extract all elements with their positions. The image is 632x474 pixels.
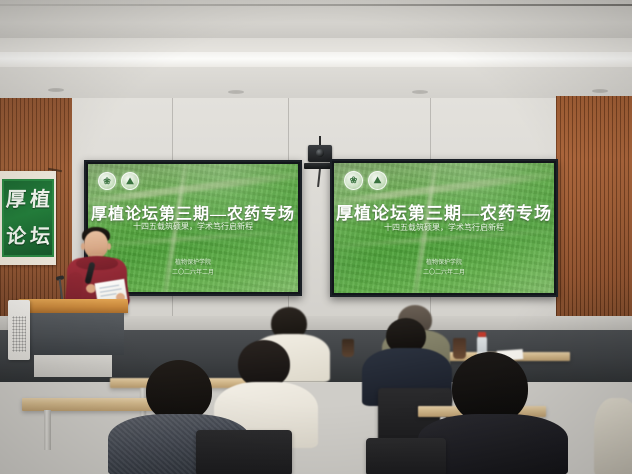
table-leg (44, 410, 51, 450)
ceiling-downlight (412, 90, 428, 94)
ceiling-beam (0, 52, 632, 67)
slide-footer-date: 二〇二六年二月 (334, 269, 554, 278)
conference-room-screenshot: 厚 植 论 坛 ❀ ⛰ 厚植论坛第三期—农药专场 十四五载筑硕果，学术笃行启新程… (0, 0, 632, 474)
plaque-char-4: 坛 (29, 227, 50, 247)
display-right-screen: ❀ ⛰ 厚植论坛第三期—农药专场 十四五载筑硕果，学术笃行启新程 植物保护学院 … (334, 163, 554, 293)
slide-right: ❀ ⛰ 厚植论坛第三期—农药专场 十四五载筑硕果，学术笃行启新程 植物保护学院 … (334, 163, 554, 293)
ceiling-downlight (48, 88, 64, 92)
college-emblem-icon: ⛰ (121, 172, 139, 190)
plaque-char-1: 厚 (5, 190, 26, 210)
slide-title: 厚植论坛第三期—农药专场 (334, 199, 554, 224)
slide-logos: ❀ ⛰ (98, 172, 139, 190)
ceiling-mid-panel (0, 38, 632, 52)
podium-base (34, 355, 112, 377)
university-emblem-icon: ❀ (98, 172, 116, 190)
ceiling-lower-panel (0, 67, 632, 100)
bottle-cap (478, 332, 486, 337)
attendee-body (594, 398, 632, 474)
display-right[interactable]: ❀ ⛰ 厚植论坛第三期—农药专场 十四五载筑硕果，学术笃行启新程 植物保护学院 … (330, 159, 558, 297)
ceiling-downlight (228, 90, 244, 94)
podium-desktop (18, 299, 128, 313)
presenter-hood (76, 256, 118, 270)
university-emblem-icon: ❀ (344, 171, 363, 190)
slide-logos: ❀ ⛰ (344, 171, 387, 190)
coffee-cup (453, 338, 466, 359)
slide-subtitle: 十四五载筑硕果，学术笃行启新程 (334, 222, 554, 233)
wall-plaque: 厚 植 论 坛 (0, 171, 56, 265)
plaque-seal: 厚 植 论 坛 (2, 179, 54, 257)
audience-chair[interactable] (366, 438, 446, 474)
coffee-cup (342, 339, 354, 357)
podium-body[interactable] (22, 313, 124, 355)
attendee-head (238, 340, 290, 388)
attendee-head (146, 360, 212, 422)
ceiling-camera-icon (308, 145, 332, 162)
plaque-char-2: 植 (29, 190, 50, 210)
slide-subtitle: 十四五载筑硕果，学术笃行启新程 (88, 221, 298, 232)
speaker-grill-icon (12, 316, 26, 352)
camera-lens-icon (316, 149, 324, 157)
ceiling-seam-line (0, 4, 632, 6)
podium-loudspeaker (8, 300, 30, 360)
presenter-ear (81, 243, 85, 250)
college-emblem-icon: ⛰ (368, 171, 387, 190)
slide-footer-org: 植物保护学院 (334, 259, 554, 268)
ceiling-downlight (592, 89, 608, 93)
audience-chair[interactable] (196, 430, 292, 474)
plaque-char-3: 论 (5, 227, 26, 247)
presenter-ear (107, 243, 111, 250)
